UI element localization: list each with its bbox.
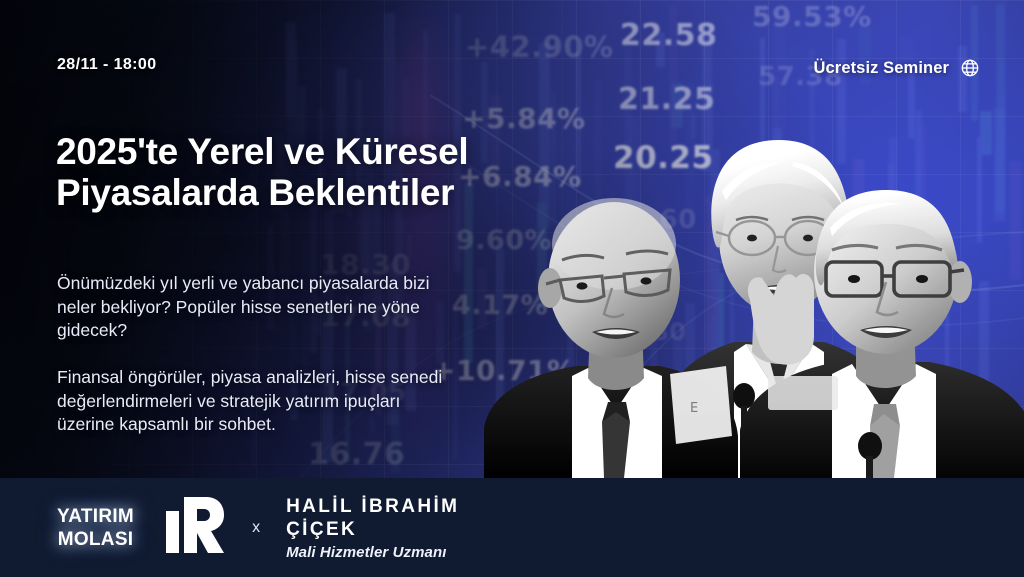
brand-line-1: YATIRIM: [57, 505, 134, 528]
page-title: 2025'te Yerel ve Küresel Piyasalarda Bek…: [56, 131, 486, 213]
footer-bar: YATIRIM MOLASI x HALİL İBRAHİM ÇİÇEK Mal…: [0, 478, 1024, 577]
speaker-name-line-2: ÇİÇEK: [286, 518, 459, 541]
r-logo-icon: [134, 495, 226, 560]
description-paragraph-2: Finansal öngörüler, piyasa analizleri, h…: [57, 366, 457, 437]
portrait-left: E: [484, 196, 738, 478]
separator-x: x: [252, 519, 260, 537]
description-paragraph-1: Önümüzdeki yıl yerli ve yabancı piyasala…: [57, 272, 457, 343]
event-datetime: 28/11 - 18:00: [57, 56, 157, 74]
globe-icon: [960, 58, 980, 78]
free-seminar-badge: Ücretsiz Seminer: [814, 58, 981, 78]
free-seminar-label: Ücretsiz Seminer: [814, 59, 950, 78]
svg-text:E: E: [690, 401, 698, 416]
seminar-poster: 22.5859.53%57.3821.25+42.90%+5.84%20.25+…: [0, 0, 1024, 577]
speaker-name-line-1: HALİL İBRAHİM: [286, 495, 459, 518]
speaker-role: Mali Hizmetler Uzmanı: [286, 544, 459, 561]
speaker-info: HALİL İBRAHİM ÇİÇEK Mali Hizmetler Uzman…: [286, 495, 459, 561]
brand-name: YATIRIM MOLASI: [57, 505, 134, 551]
portrait-right: [734, 178, 1024, 478]
brand-line-2: MOLASI: [57, 528, 134, 551]
